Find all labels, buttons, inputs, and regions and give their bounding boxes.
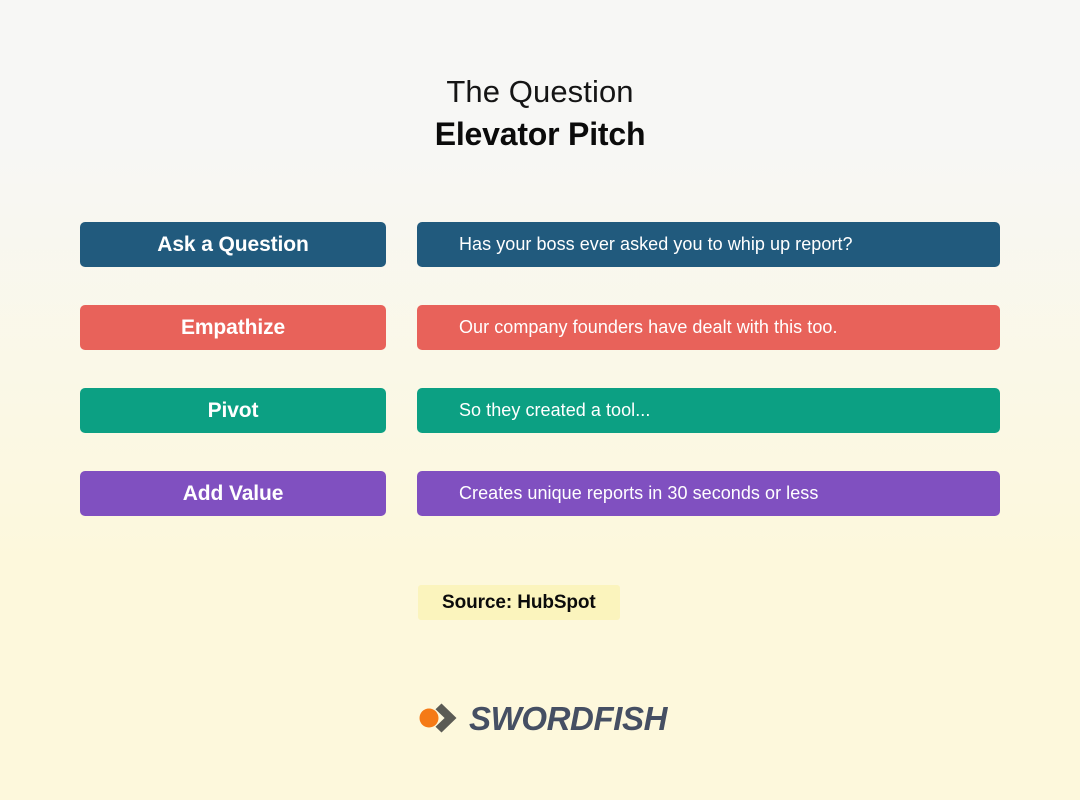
- pitch-row: Pivot So they created a tool...: [80, 388, 1000, 433]
- pitch-step-text-3: Creates unique reports in 30 seconds or …: [417, 471, 1000, 516]
- pitch-rows: Ask a Question Has your boss ever asked …: [80, 222, 1000, 516]
- pitch-step-label-2: Pivot: [80, 388, 386, 433]
- slide-header: The Question Elevator Pitch: [0, 72, 1080, 155]
- pitch-row: Empathize Our company founders have deal…: [80, 305, 1000, 350]
- logo-wordmark: SWORDFISH: [469, 702, 667, 735]
- source-badge: Source: HubSpot: [418, 585, 620, 620]
- pitch-step-text-0: Has your boss ever asked you to whip up …: [417, 222, 1000, 267]
- slide-canvas: The Question Elevator Pitch Ask a Questi…: [0, 0, 1080, 800]
- pitch-step-label-3: Add Value: [80, 471, 386, 516]
- pitch-row: Ask a Question Has your boss ever asked …: [80, 222, 1000, 267]
- row-gap: [386, 388, 417, 433]
- page-title: Elevator Pitch: [0, 114, 1080, 155]
- header-kicker: The Question: [0, 72, 1080, 112]
- pitch-step-label-0: Ask a Question: [80, 222, 386, 267]
- pitch-step-text-1: Our company founders have dealt with thi…: [417, 305, 1000, 350]
- pitch-step-text-2: So they created a tool...: [417, 388, 1000, 433]
- brand-logo: SWORDFISH: [418, 697, 667, 739]
- row-gap: [386, 471, 417, 516]
- pitch-step-label-1: Empathize: [80, 305, 386, 350]
- pitch-row: Add Value Creates unique reports in 30 s…: [80, 471, 1000, 516]
- row-gap: [386, 222, 417, 267]
- orange-dot-chevron-icon: [418, 697, 465, 739]
- row-gap: [386, 305, 417, 350]
